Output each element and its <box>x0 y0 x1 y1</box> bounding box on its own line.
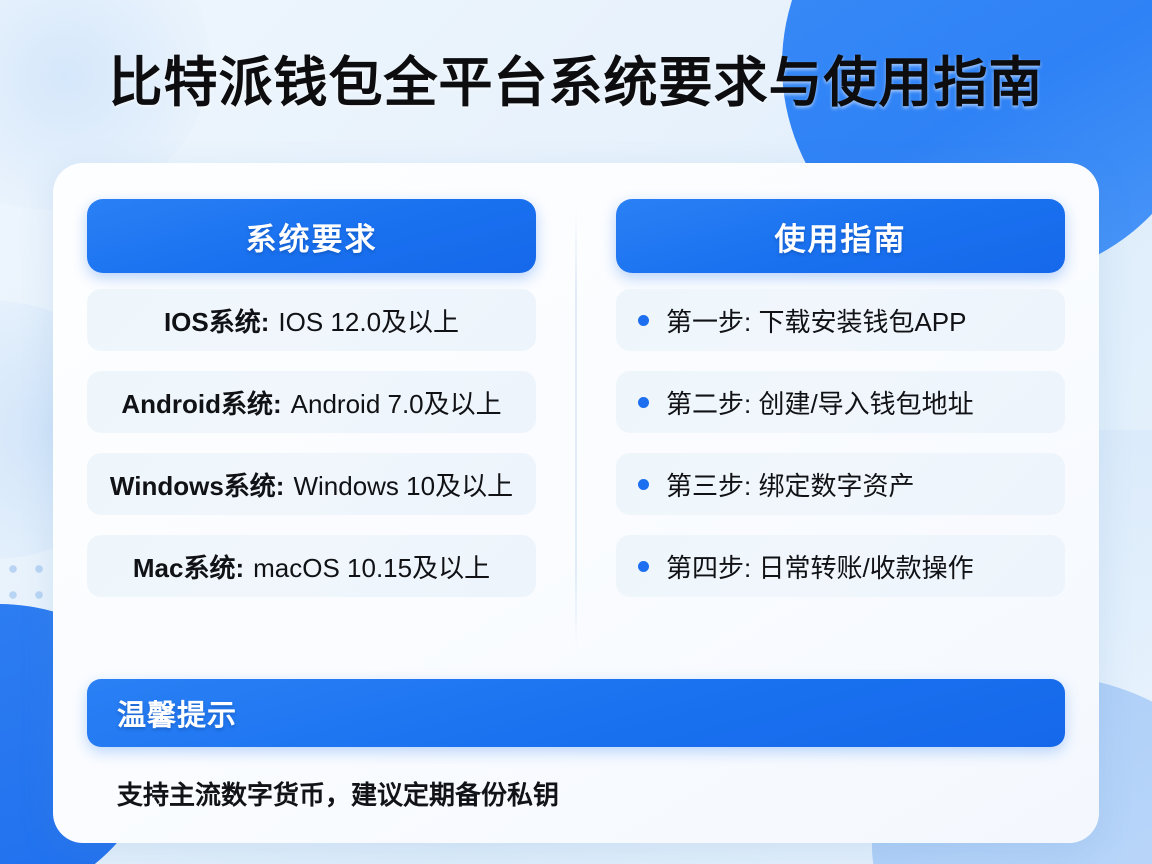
spec-label: IOS系统: <box>164 302 269 339</box>
usage-guide-column: 使用指南 第一步: 下载安装钱包APP 第二步: 创建/导入钱包地址 第三步: … <box>576 199 1065 671</box>
step-label: 第四步: 日常转账/收款操作 <box>666 548 974 585</box>
bullet-icon <box>638 479 649 490</box>
list-item[interactable]: 第二步: 创建/导入钱包地址 <box>616 371 1065 433</box>
column-divider <box>576 209 577 649</box>
spec-label: Mac系统: <box>133 548 244 585</box>
step-label: 第二步: 创建/导入钱包地址 <box>666 384 974 421</box>
section-header-label: 使用指南 <box>775 214 907 259</box>
system-requirements-column: 系统要求 IOS系统: IOS 12.0及以上 Android系统: Andro… <box>87 199 576 671</box>
section-header-label: 系统要求 <box>246 214 378 259</box>
table-row[interactable]: Mac系统: macOS 10.15及以上 <box>87 535 536 597</box>
tip-body-text: 支持主流数字货币，建议定期备份私钥 <box>87 775 1065 812</box>
step-label: 第三步: 绑定数字资产 <box>666 466 914 503</box>
bullet-icon <box>638 561 649 572</box>
section-header-tip: 温馨提示 <box>87 679 1065 747</box>
table-row[interactable]: IOS系统: IOS 12.0及以上 <box>87 289 536 351</box>
system-requirements-list: IOS系统: IOS 12.0及以上 Android系统: Android 7.… <box>87 289 536 597</box>
section-header-system-requirements: 系统要求 <box>87 199 536 273</box>
tip-section: 温馨提示 支持主流数字货币，建议定期备份私钥 <box>87 679 1065 812</box>
list-item[interactable]: 第三步: 绑定数字资产 <box>616 453 1065 515</box>
bullet-icon <box>638 315 649 326</box>
page-title: 比特派钱包全平台系统要求与使用指南 <box>0 52 1152 114</box>
main-content-card: 系统要求 IOS系统: IOS 12.0及以上 Android系统: Andro… <box>53 163 1099 843</box>
usage-guide-list: 第一步: 下载安装钱包APP 第二步: 创建/导入钱包地址 第三步: 绑定数字资… <box>616 289 1065 597</box>
spec-label: Android系统: <box>121 384 281 421</box>
list-item[interactable]: 第一步: 下载安装钱包APP <box>616 289 1065 351</box>
step-label: 第一步: 下载安装钱包APP <box>666 302 966 339</box>
list-item[interactable]: 第四步: 日常转账/收款操作 <box>616 535 1065 597</box>
spec-value: Android 7.0及以上 <box>291 384 502 421</box>
spec-value: Windows 10及以上 <box>293 466 513 503</box>
tip-header-label: 温馨提示 <box>117 692 237 734</box>
bullet-icon <box>638 397 649 408</box>
two-column-layout: 系统要求 IOS系统: IOS 12.0及以上 Android系统: Andro… <box>87 199 1065 671</box>
spec-value: IOS 12.0及以上 <box>278 302 459 339</box>
spec-label: Windows系统: <box>110 466 285 503</box>
spec-value: macOS 10.15及以上 <box>253 548 490 585</box>
table-row[interactable]: Windows系统: Windows 10及以上 <box>87 453 536 515</box>
section-header-usage-guide: 使用指南 <box>616 199 1065 273</box>
table-row[interactable]: Android系统: Android 7.0及以上 <box>87 371 536 433</box>
